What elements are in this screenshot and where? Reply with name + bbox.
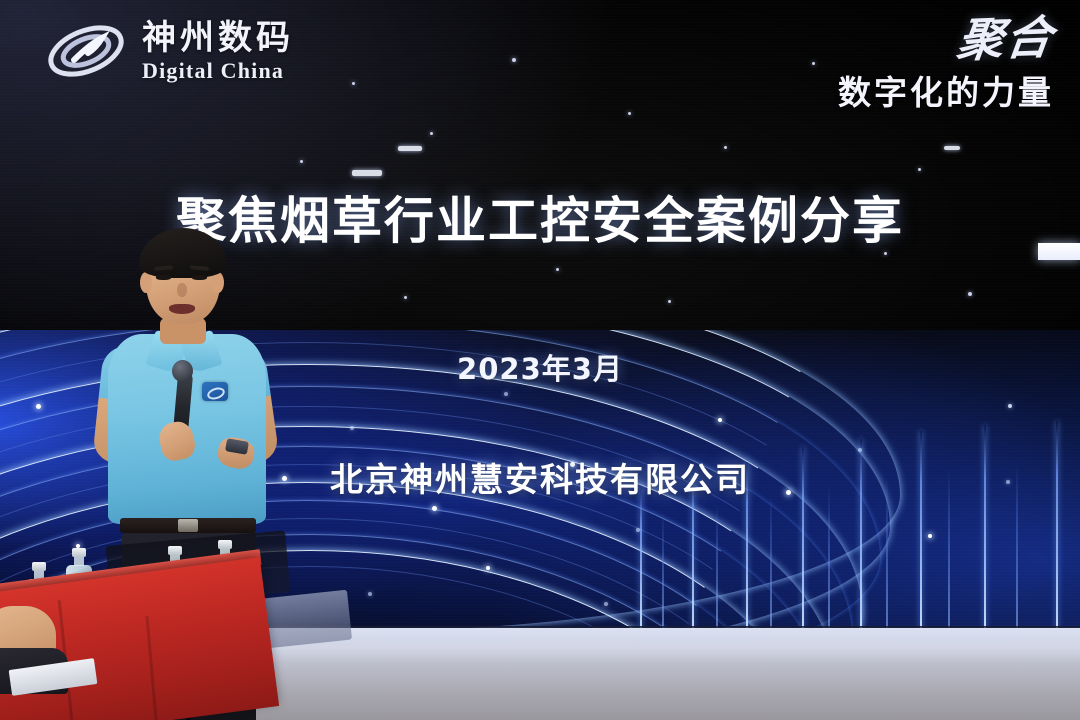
brand-name-en: Digital China	[142, 60, 294, 82]
presenter-belt-buckle	[178, 519, 198, 532]
conference-photo-stage: 神州数码 Digital China 聚合 数字化的力量 聚焦烟草行业工控安全案…	[0, 0, 1080, 720]
presenter-eye-right	[192, 275, 207, 280]
presenter-ear-left	[140, 272, 152, 293]
campaign-brand: 聚合 数字化的力量	[838, 14, 1054, 114]
presenter-mouth	[169, 304, 195, 314]
company-badge-icon	[202, 382, 228, 401]
digital-china-swirl-icon	[44, 18, 128, 84]
brand-name-cn: 神州数码	[142, 21, 294, 55]
presenter-nose	[177, 283, 187, 297]
presenter-hair	[139, 228, 227, 278]
screen-edge-light-bar	[1038, 243, 1080, 260]
digital-china-brand: 神州数码 Digital China	[44, 18, 294, 84]
campaign-subtitle: 数字化的力量	[838, 66, 1054, 114]
campaign-calligraphy: 聚合	[834, 14, 1057, 68]
presenter-eye-left	[156, 275, 171, 280]
